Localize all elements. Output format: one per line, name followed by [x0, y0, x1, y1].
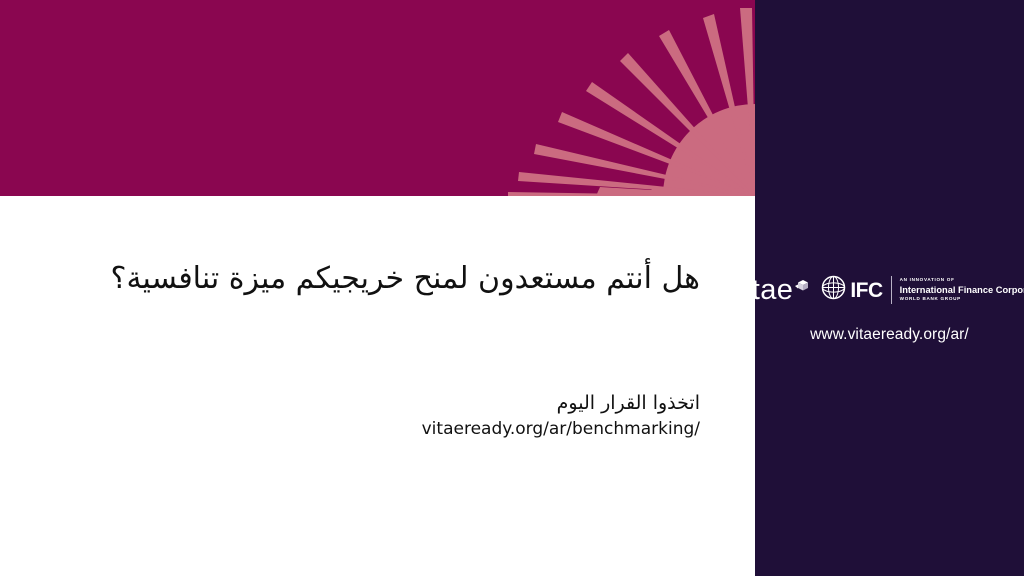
logo-lockup: vitae: [755, 275, 1024, 305]
world-bank-group-name: WORLD BANK GROUP: [900, 297, 1024, 302]
call-to-action-url[interactable]: vitaeready.org/ar/benchmarking/: [60, 418, 700, 440]
header-band: [0, 0, 755, 196]
logo-divider: [891, 276, 892, 304]
vitae-wordmark: vitae: [730, 276, 793, 305]
presentation-slide: vitae: [0, 0, 1024, 576]
ifc-abbreviation: IFC: [850, 280, 882, 301]
side-panel: vitae: [755, 0, 1024, 576]
call-to-action-text: اتخذوا القرار اليوم: [60, 390, 700, 416]
ifc-text-stack: AN INNOVATION OF International Finance C…: [900, 278, 1024, 302]
slide-heading: هل أنتم مستعدون لمنح خريجيكم ميزة تنافسي…: [60, 258, 700, 300]
vitae-logo: vitae: [730, 276, 810, 305]
corporation-name: International Finance Corporation: [900, 285, 1024, 295]
ifc-logo: IFC AN INNOVATION OF International Finan…: [821, 275, 1024, 305]
innovation-tagline: AN INNOVATION OF: [900, 278, 1024, 283]
ifc-globe-icon: [821, 275, 846, 305]
sunburst-rays-graphic: [0, 0, 755, 196]
panel-website-url[interactable]: www.vitaeready.org/ar/: [755, 326, 1024, 344]
vitae-cube-icon: [795, 277, 810, 297]
